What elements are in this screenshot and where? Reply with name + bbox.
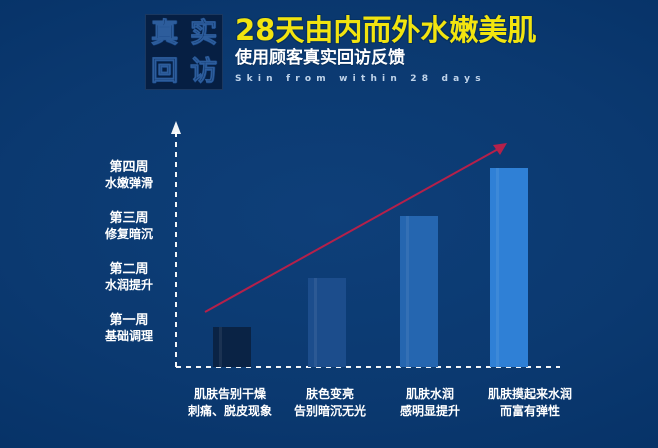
y-axis-labels: 第四周 水嫩弹滑 第三周 修复暗沉 第二周 水润提升 第一周 基础调理 xyxy=(88,160,170,344)
y-axis-label-week3: 第三周 修复暗沉 xyxy=(88,211,170,243)
bar-2-highlight xyxy=(314,278,317,367)
y-axis-label-week1: 第一周 基础调理 xyxy=(88,313,170,345)
y-axis-label-week2-desc: 水润提升 xyxy=(88,278,170,294)
bar-3-highlight xyxy=(406,216,409,367)
bar-4 xyxy=(490,168,528,367)
x-axis-label-4: 肌肤摸起来水润 而富有弹性 xyxy=(480,386,580,421)
trend-line xyxy=(205,148,500,312)
x-axis-label-2: 肤色变亮 告别暗沉无光 xyxy=(280,386,380,421)
bar-2 xyxy=(308,278,346,367)
x-axis-label-3-line1: 肌肤水润 xyxy=(380,386,480,403)
x-axis-label-2-line2: 告别暗沉无光 xyxy=(280,403,380,420)
bar-3 xyxy=(400,216,438,367)
y-axis-label-week3-title: 第三周 xyxy=(88,211,170,227)
x-axis-label-1-line1: 肌肤告别干燥 xyxy=(180,386,280,403)
y-axis-label-week2-title: 第二周 xyxy=(88,262,170,278)
x-axis-label-4-line1: 肌肤摸起来水润 xyxy=(480,386,580,403)
y-axis-label-week3-desc: 修复暗沉 xyxy=(88,227,170,243)
y-axis-label-week4-title: 第四周 xyxy=(88,160,170,176)
x-axis-label-1: 肌肤告别干燥 刺痛、脱皮现象 xyxy=(180,386,280,421)
y-axis-label-week2: 第二周 水润提升 xyxy=(88,262,170,294)
y-axis-label-week4-desc: 水嫩弹滑 xyxy=(88,176,170,192)
bar-1-highlight xyxy=(219,327,222,367)
x-axis-label-4-line2: 而富有弹性 xyxy=(480,403,580,420)
poster-root: 真 实 回 访 28天由内而外水嫩美肌 使用顾客真实回访反馈 Skin from… xyxy=(0,0,658,448)
y-axis-label-week4: 第四周 水嫩弹滑 xyxy=(88,160,170,192)
bar-1 xyxy=(213,327,251,367)
trend-arrow-icon xyxy=(493,143,507,155)
bar-4-highlight xyxy=(496,168,499,367)
y-axis-label-week1-title: 第一周 xyxy=(88,313,170,329)
x-axis-label-3-line2: 感明显提升 xyxy=(380,403,480,420)
y-axis-label-week1-desc: 基础调理 xyxy=(88,329,170,345)
x-axis-label-2-line1: 肤色变亮 xyxy=(280,386,380,403)
x-axis-label-1-line2: 刺痛、脱皮现象 xyxy=(180,403,280,420)
y-axis-arrow-icon xyxy=(171,121,181,134)
x-axis-label-3: 肌肤水润 感明显提升 xyxy=(380,386,480,421)
bar-chart: 第四周 水嫩弹滑 第三周 修复暗沉 第二周 水润提升 第一周 基础调理 肌肤 xyxy=(0,0,658,448)
x-axis-labels: 肌肤告别干燥 刺痛、脱皮现象 肤色变亮 告别暗沉无光 肌肤水润 感明显提升 肌肤… xyxy=(180,386,580,421)
